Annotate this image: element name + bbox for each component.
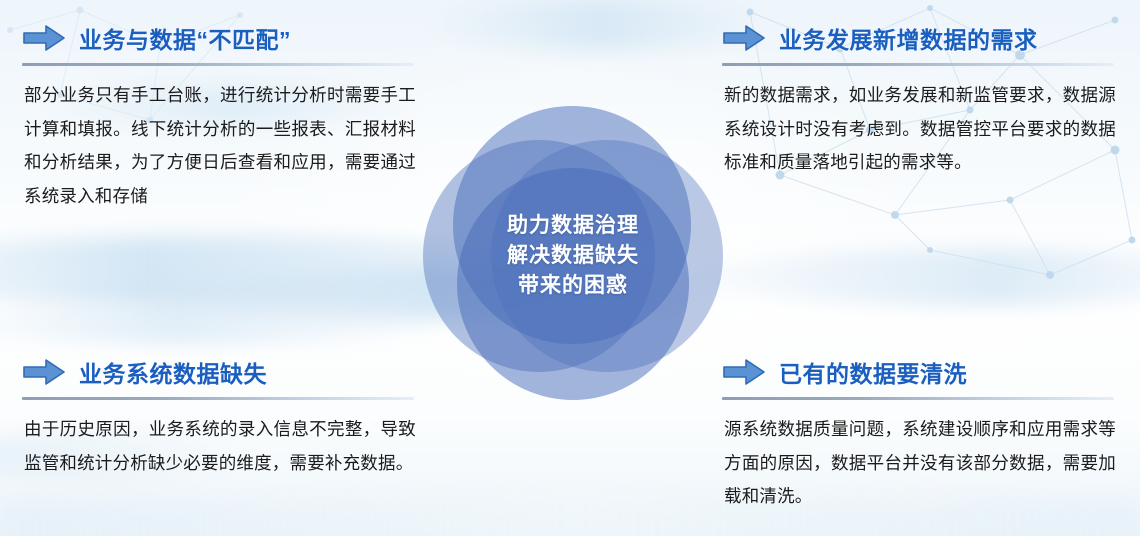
center-label: 助力数据治理 解决数据缺失 带来的困惑 xyxy=(423,106,723,406)
section-heading-row: 业务系统数据缺失 xyxy=(22,352,422,392)
section-new-data-demand: 业务发展新增数据的需求 新的数据需求，如业务发展和新监管要求，数据源系统设计时没… xyxy=(722,18,1122,180)
center-venn-graphic: 助力数据治理 解决数据缺失 带来的困惑 xyxy=(423,106,723,406)
section-heading-row: 业务发展新增数据的需求 xyxy=(722,18,1122,58)
section-divider xyxy=(722,397,1114,400)
section-divider xyxy=(722,63,1114,66)
section-heading-row: 业务与数据“不匹配” xyxy=(22,18,422,58)
background-wave xyxy=(430,0,770,50)
section-heading: 业务发展新增数据的需求 xyxy=(779,21,1038,55)
center-label-line-2: 解决数据缺失 xyxy=(507,241,639,271)
center-label-line-1: 助力数据治理 xyxy=(507,211,639,241)
section-body: 由于历史原因，业务系统的录入信息不完整，导致监管和统计分析缺少必要的维度，需要补… xyxy=(22,413,416,480)
background-wave xyxy=(0,300,460,344)
arrow-right-icon xyxy=(722,24,766,52)
section-business-system-data-missing: 业务系统数据缺失 由于历史原因，业务系统的录入信息不完整，导致监管和统计分析缺少… xyxy=(22,352,422,480)
section-heading: 业务系统数据缺失 xyxy=(79,355,267,389)
section-heading: 已有的数据要清洗 xyxy=(779,355,967,389)
section-existing-data-cleaning: 已有的数据要清洗 源系统数据质量问题，系统建设顺序和应用需求等方面的原因，数据平… xyxy=(722,352,1122,514)
section-body: 部分业务只有手工台账，进行统计分析时需要手工计算和填报。线下统计分析的一些报表、… xyxy=(22,79,416,213)
arrow-right-icon xyxy=(22,358,66,386)
section-divider xyxy=(22,63,414,66)
section-body: 新的数据需求，如业务发展和新监管要求，数据源系统设计时没有考虑到。数据管控平台要… xyxy=(722,79,1116,180)
slide-canvas: 助力数据治理 解决数据缺失 带来的困惑 业务与数据“不匹配” 部分业务只有手工台… xyxy=(0,0,1140,536)
section-body: 源系统数据质量问题，系统建设顺序和应用需求等方面的原因，数据平台并没有该部分数据… xyxy=(722,413,1116,514)
section-heading: 业务与数据“不匹配” xyxy=(79,21,291,55)
arrow-right-icon xyxy=(722,358,766,386)
section-divider xyxy=(22,397,414,400)
background-wave xyxy=(690,250,1140,306)
section-heading-row: 已有的数据要清洗 xyxy=(722,352,1122,392)
center-label-line-3: 带来的困惑 xyxy=(518,271,628,301)
section-business-data-mismatch: 业务与数据“不匹配” 部分业务只有手工台账，进行统计分析时需要手工计算和填报。线… xyxy=(22,18,422,213)
arrow-right-icon xyxy=(22,24,66,52)
